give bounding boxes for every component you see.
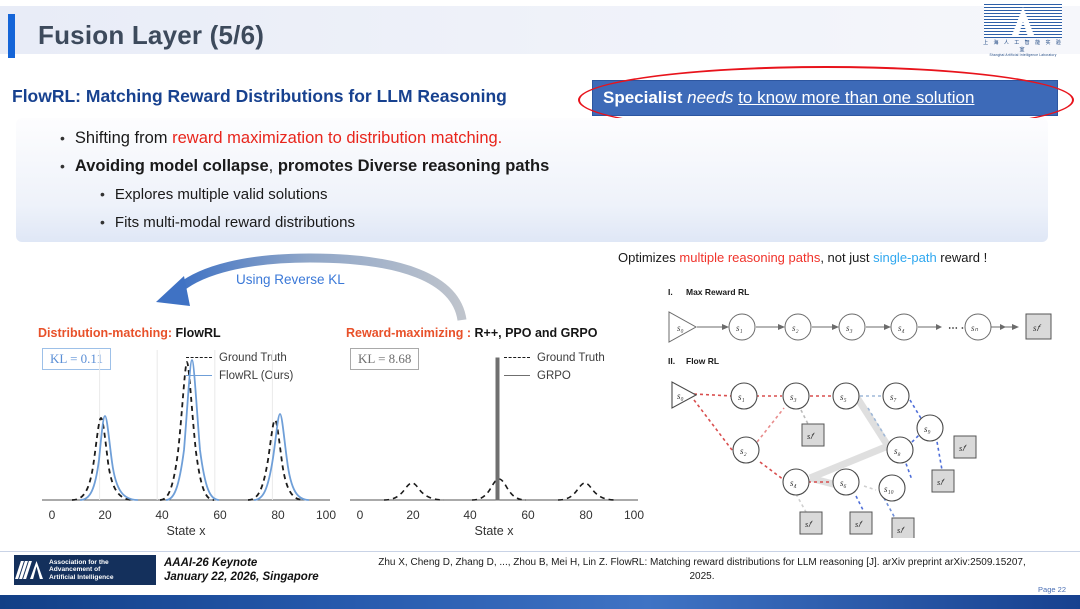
rd-accent-red: multiple reasoning paths xyxy=(679,250,820,265)
svg-text:s₆: s₆ xyxy=(840,478,847,488)
max-reward-rl-chain: s₀ s₁ s₂ s₃ s₄ ⋯ ⋯ sₙ s𝑓 xyxy=(660,300,1058,354)
chart-grpo-caption-main: R++, PPO and GRPO xyxy=(475,326,598,340)
bullet-2-plain: , xyxy=(269,157,278,175)
chart-flowrl-xticks: 0 20 40 60 80 100 xyxy=(42,508,330,524)
svg-text:s₇: s₇ xyxy=(890,392,897,402)
chart-grpo-caption: Reward-maximizing : R++, PPO and GRPO xyxy=(346,326,646,340)
bullet-2-bold-2: promotes Diverse reasoning paths xyxy=(278,157,549,175)
aaai-mark-icon xyxy=(18,558,44,582)
keynote-title: AAAI-26 Keynote xyxy=(164,556,319,570)
chart-grpo: Reward-maximizing : R++, PPO and GRPO KL… xyxy=(346,326,646,541)
svg-text:sₙ: sₙ xyxy=(971,323,979,333)
bullet-dot-icon: • xyxy=(60,159,65,173)
chart-grpo-caption-accent: Reward-maximizing : xyxy=(346,326,471,340)
svg-text:s₁₀: s₁₀ xyxy=(884,484,894,494)
bullet-dot-icon: • xyxy=(100,187,105,201)
aaai-line-2: Advancement of xyxy=(49,566,114,574)
svg-text:s₁: s₁ xyxy=(738,392,745,402)
aaai-logo: Association for the Advancement of Artif… xyxy=(14,555,156,585)
bullet-1-plain: Shifting from xyxy=(75,129,172,147)
logo-english-text: Shanghai Artificial Intelligence Laborat… xyxy=(980,53,1066,57)
rd-plain-3: reward ! xyxy=(937,250,988,265)
bullet-1-accent: reward maximization to distribution matc… xyxy=(172,129,502,147)
svg-text:s₈: s₈ xyxy=(894,446,901,456)
paper-title: FlowRL: Matching Reward Distributions fo… xyxy=(12,86,507,107)
citation-text: Zhu X, Cheng D, Zhang D, ..., Zhou B, Me… xyxy=(372,556,1032,584)
reverse-kl-arrow-icon xyxy=(150,252,470,322)
callout-box: Specialist needs to know more than one s… xyxy=(592,80,1058,116)
svg-text:s₂: s₂ xyxy=(740,446,747,456)
section-2-title: Flow RL xyxy=(686,356,719,366)
footer-accent-bar xyxy=(0,595,1080,609)
svg-text:s₀: s₀ xyxy=(677,391,684,401)
bullet-dot-icon: • xyxy=(60,131,65,145)
chart-flowrl-caption-accent: Distribution-matching: xyxy=(38,326,172,340)
chart-flowrl: Distribution-matching: FlowRL KL = 0.11 … xyxy=(38,326,338,541)
headline-row: FlowRL: Matching Reward Distributions fo… xyxy=(0,80,1080,118)
title-accent-bar xyxy=(8,14,15,58)
bullet-item-2: • Avoiding model collapse, promotes Dive… xyxy=(60,157,549,176)
footer-divider xyxy=(0,551,1080,552)
flow-rl-graph: s₀ s₁ s₃ s₅ s₇ s₂ s₉ s₈ s₄ s₆ s₁₀ s𝑓 s𝑓 … xyxy=(660,370,1058,538)
page-title: Fusion Layer (5/6) xyxy=(38,20,264,51)
section-1-title: Max Reward RL xyxy=(686,287,749,297)
chart-grpo-xlabel: State x xyxy=(350,524,638,538)
xtick: 80 xyxy=(579,508,592,522)
aaai-line-3: Artificial Intelligence xyxy=(49,574,114,582)
bullet-item-1: • Shifting from reward maximization to d… xyxy=(60,129,502,148)
section-2-number: II. xyxy=(668,356,675,366)
keynote-info: AAAI-26 Keynote January 22, 2026, Singap… xyxy=(164,556,319,584)
bullet-text-4: Fits multi-modal reward distributions xyxy=(115,214,355,231)
xtick: 20 xyxy=(98,508,111,522)
xtick: 60 xyxy=(521,508,534,522)
bullet-2-bold-1: Avoiding model collapse xyxy=(75,157,269,175)
svg-text:s₃: s₃ xyxy=(790,392,797,402)
xtick: 20 xyxy=(406,508,419,522)
bullet-dot-icon: • xyxy=(100,215,105,229)
xtick: 80 xyxy=(271,508,284,522)
svg-text:s₄: s₄ xyxy=(790,478,797,488)
xtick: 40 xyxy=(155,508,168,522)
slide-title-bar: Fusion Layer (5/6) xyxy=(0,6,1080,54)
chart-grpo-plot xyxy=(350,340,638,508)
bullet-item-3: • Explores multiple valid solutions xyxy=(100,186,328,203)
reverse-kl-label: Using Reverse KL xyxy=(236,272,345,287)
svg-text:s₄: s₄ xyxy=(898,323,905,333)
bullets-panel: • Shifting from reward maximization to d… xyxy=(16,118,1048,242)
section-1-number: I. xyxy=(668,287,673,297)
svg-text:s₅: s₅ xyxy=(840,392,847,402)
svg-text:s₁: s₁ xyxy=(736,323,743,333)
xtick: 0 xyxy=(49,508,56,522)
xtick: 100 xyxy=(624,508,644,522)
rd-plain-1: Optimizes xyxy=(618,250,679,265)
svg-text:s₉: s₉ xyxy=(924,424,931,434)
shanghai-ai-lab-logo: 上 海 人 工 智 能 实 验 室 Shanghai Artificial In… xyxy=(980,4,1066,54)
chart-flowrl-xlabel: State x xyxy=(42,524,330,538)
xtick: 60 xyxy=(213,508,226,522)
logo-mountain-icon xyxy=(1012,7,1034,35)
svg-text:s₂: s₂ xyxy=(792,323,799,333)
aaai-letter-a xyxy=(30,561,43,579)
logo-bars-icon xyxy=(984,4,1062,38)
rd-plain-2: , not just xyxy=(820,250,873,265)
svg-text:s₀: s₀ xyxy=(677,323,684,333)
logo-chinese-text: 上 海 人 工 智 能 实 验 室 xyxy=(980,39,1066,53)
right-diagram-headline: Optimizes multiple reasoning paths, not … xyxy=(618,250,987,265)
page-number: Page 22 xyxy=(1038,585,1066,594)
rl-diagram-panel: I. Max Reward RL II. Flow RL s₀ s₁ s₂ s₃… xyxy=(660,278,1058,540)
xtick: 100 xyxy=(316,508,336,522)
callout-bold: Specialist xyxy=(603,88,682,107)
bullet-text-3: Explores multiple valid solutions xyxy=(115,186,328,203)
aaai-line-1: Association for the xyxy=(49,559,114,567)
aaai-wordmark: Association for the Advancement of Artif… xyxy=(49,559,114,582)
callout-underline: to know more than one solution xyxy=(738,88,974,107)
chart-flowrl-caption-main: FlowRL xyxy=(176,326,221,340)
rd-accent-blue: single-path xyxy=(873,250,937,265)
callout-text: Specialist needs to know more than one s… xyxy=(593,88,974,108)
callout-italic: needs xyxy=(687,88,733,107)
xtick: 40 xyxy=(463,508,476,522)
chart-grpo-xticks: 0 20 40 60 80 100 xyxy=(350,508,638,524)
keynote-date-location: January 22, 2026, Singapore xyxy=(164,570,319,584)
svg-text:s₃: s₃ xyxy=(846,323,853,333)
bullet-text-2: Avoiding model collapse, promotes Divers… xyxy=(75,157,549,176)
bullet-item-4: • Fits multi-modal reward distributions xyxy=(100,214,355,231)
chart-flowrl-plot xyxy=(42,340,330,508)
xtick: 0 xyxy=(357,508,364,522)
chart-flowrl-caption: Distribution-matching: FlowRL xyxy=(38,326,338,340)
bullet-text-1: Shifting from reward maximization to dis… xyxy=(75,129,502,148)
